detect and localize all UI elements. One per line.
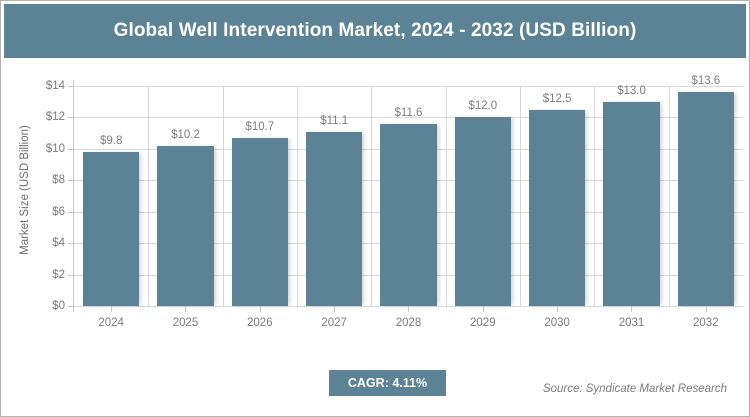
y-tick-label: $10 <box>46 143 65 155</box>
y-tick-label: $4 <box>52 237 65 249</box>
bar-value-label: $13.0 <box>594 85 668 97</box>
bar-slot: $12.52030 <box>520 86 594 306</box>
bar-value-label: $11.6 <box>371 107 445 119</box>
bar-slot: $11.62028 <box>371 86 445 306</box>
bar-value-label: $9.8 <box>74 135 148 147</box>
x-tick-mark <box>334 306 335 312</box>
bar-value-label: $10.7 <box>223 121 297 133</box>
bar[interactable] <box>529 110 585 306</box>
bar-value-label: $10.2 <box>148 129 222 141</box>
bar[interactable] <box>83 152 139 306</box>
bar[interactable] <box>306 132 362 306</box>
bar-slot: $10.22025 <box>148 86 222 306</box>
bar-value-label: $11.1 <box>297 115 371 127</box>
x-tick-label: 2025 <box>148 317 222 329</box>
y-tick-mark <box>68 306 74 307</box>
bar-value-label: $12.0 <box>446 100 520 112</box>
bar-slot: $13.62032 <box>669 86 743 306</box>
y-tick-label: $12 <box>46 111 65 123</box>
x-tick-mark <box>185 306 186 312</box>
chart-card: Global Well Intervention Market, 2024 - … <box>0 0 750 417</box>
bar-slot: $9.82024 <box>74 86 148 306</box>
x-tick-label: 2031 <box>594 317 668 329</box>
x-tick-label: 2026 <box>223 317 297 329</box>
x-tick-mark <box>111 306 112 312</box>
bar-slot: $11.12027 <box>297 86 371 306</box>
x-tick-mark <box>260 306 261 312</box>
chart-plot-region: Market Size (USD Billion) $0$2$4$6$8$10$… <box>1 58 750 358</box>
bar[interactable] <box>455 117 511 306</box>
chart-header: Global Well Intervention Market, 2024 - … <box>4 4 746 58</box>
x-tick-mark <box>408 306 409 312</box>
page-title: Global Well Intervention Market, 2024 - … <box>114 20 637 42</box>
y-tick-label: $6 <box>52 206 65 218</box>
source-note: Source: Syndicate Market Research <box>543 383 727 395</box>
bar-slot: $13.02031 <box>594 86 668 306</box>
x-tick-mark <box>557 306 558 312</box>
x-tick-label: 2024 <box>74 317 148 329</box>
bar-value-label: $13.6 <box>669 75 743 87</box>
x-tick-label: 2032 <box>669 317 743 329</box>
cagr-badge: CAGR: 4.11% <box>329 370 446 396</box>
x-tick-mark <box>706 306 707 312</box>
x-tick-label: 2030 <box>520 317 594 329</box>
y-axis-title: Market Size (USD Billion) <box>19 90 31 290</box>
bar[interactable] <box>603 102 659 306</box>
bar[interactable] <box>232 138 288 306</box>
bar[interactable] <box>678 92 734 306</box>
y-tick-label: $2 <box>52 269 65 281</box>
bar-slot: $10.72026 <box>223 86 297 306</box>
y-tick-label: $8 <box>52 174 65 186</box>
bar[interactable] <box>157 146 213 306</box>
x-tick-mark <box>631 306 632 312</box>
y-tick-label: $14 <box>46 80 65 92</box>
bar-slot: $12.02029 <box>446 86 520 306</box>
plot-area: $0$2$4$6$8$10$12$14 $9.82024$10.22025$10… <box>74 86 743 306</box>
bar[interactable] <box>380 124 436 306</box>
x-tick-mark <box>483 306 484 312</box>
x-tick-label: 2028 <box>371 317 445 329</box>
x-tick-label: 2027 <box>297 317 371 329</box>
x-tick-label: 2029 <box>446 317 520 329</box>
y-tick-label: $0 <box>52 300 65 312</box>
bar-value-label: $12.5 <box>520 93 594 105</box>
